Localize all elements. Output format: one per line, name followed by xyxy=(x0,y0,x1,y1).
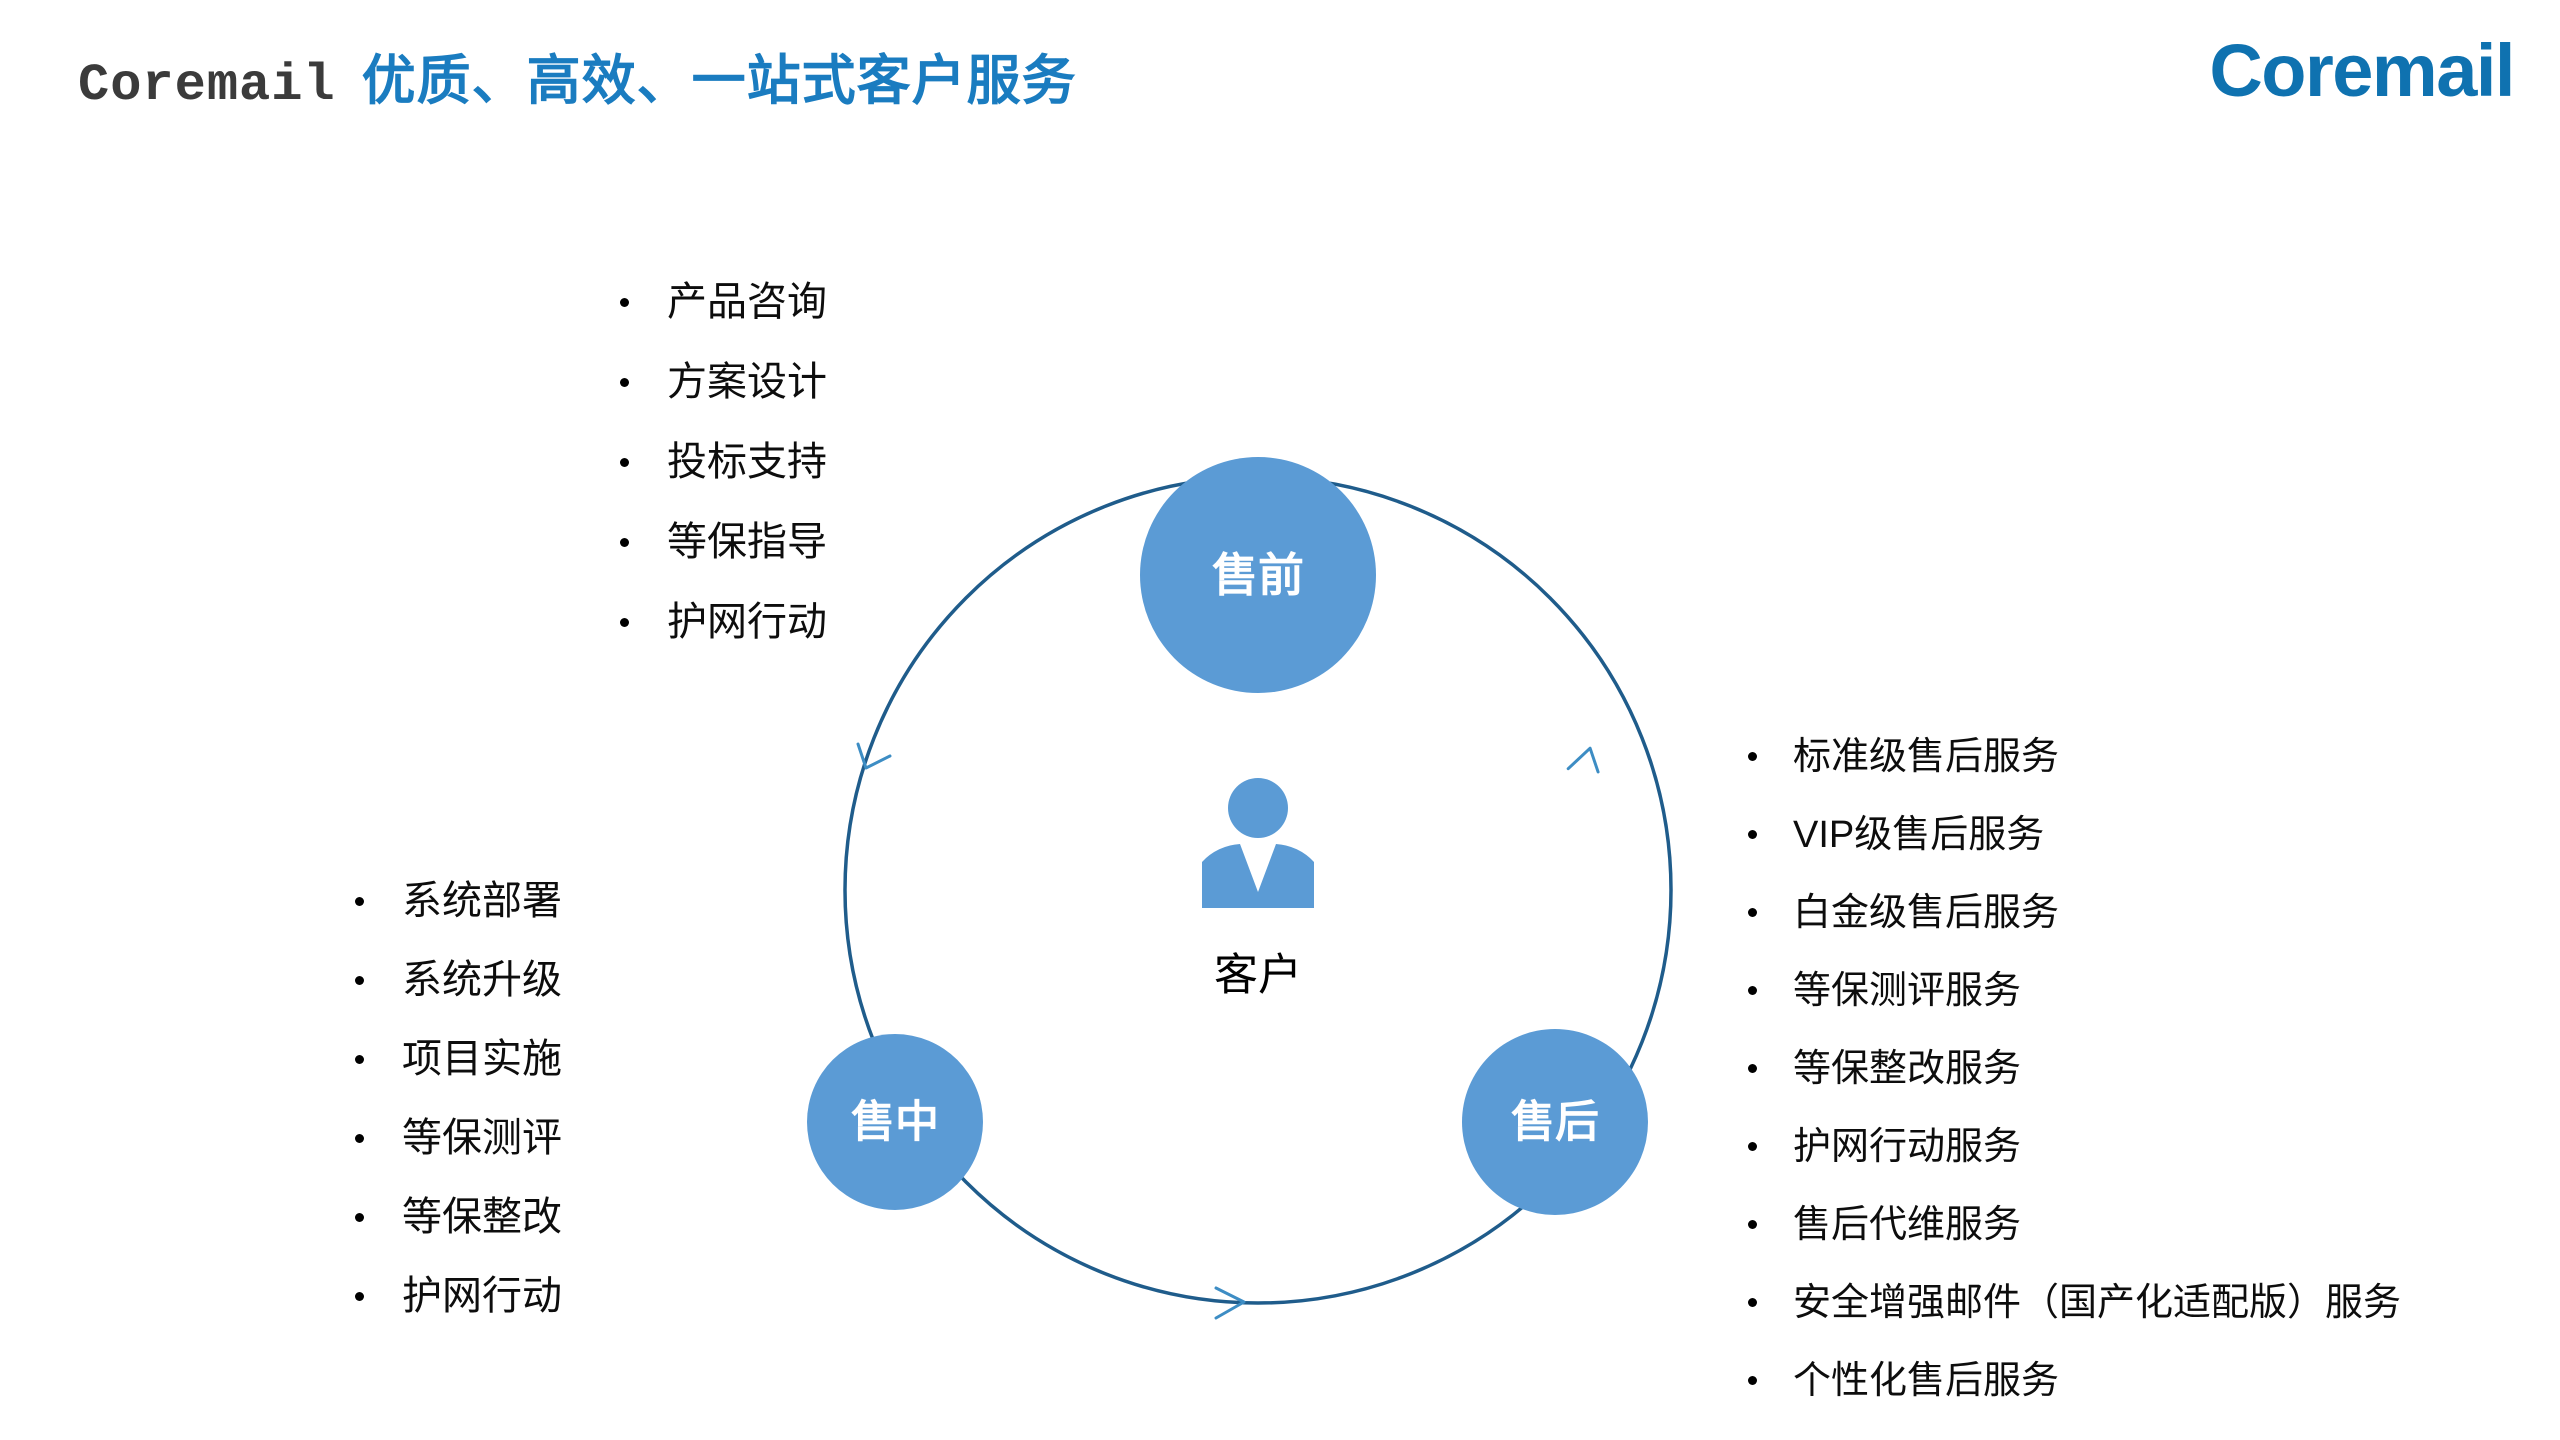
slide-canvas: Coremail 优质、高效、一站式客户服务 Coremail 产品咨询 方案设… xyxy=(0,0,2560,1440)
list-item: 标准级售后服务 xyxy=(1748,718,2401,796)
list-item-label: 等保整改 xyxy=(402,1178,562,1257)
list-item: 系统升级 xyxy=(355,941,562,1020)
service-cycle-diagram: 售前 售中 售后 xyxy=(800,420,1740,1380)
list-item-label: 标准级售后服务 xyxy=(1793,718,2059,796)
bullet-dot-icon xyxy=(1748,1220,1757,1229)
list-item: 安全增强邮件（国产化适配版）服务 xyxy=(1748,1264,2401,1342)
bullet-dot-icon xyxy=(1748,1376,1757,1385)
list-item: 项目实施 xyxy=(355,1020,562,1099)
person-body-icon xyxy=(1202,844,1314,908)
page-title: Coremail 优质、高效、一站式客户服务 xyxy=(78,36,1077,115)
list-item: 护网行动 xyxy=(620,582,827,662)
list-item: 个性化售后服务 xyxy=(1748,1342,2401,1420)
bullet-dot-icon xyxy=(1748,830,1757,839)
person-head-icon xyxy=(1228,778,1288,838)
list-item-label: 产品咨询 xyxy=(667,262,827,342)
list-item: 护网行动 xyxy=(355,1257,562,1336)
list-item: 系统部署 xyxy=(355,862,562,941)
title-brand-text: Coremail xyxy=(78,56,336,115)
list-item-label: 个性化售后服务 xyxy=(1793,1342,2059,1420)
list-item: 等保测评 xyxy=(355,1099,562,1178)
bullet-dot-icon xyxy=(355,897,364,906)
bullet-dot-icon xyxy=(355,1292,364,1301)
bullet-dot-icon xyxy=(355,1055,364,1064)
person-icon-glyph xyxy=(1202,778,1314,908)
node-presale-label: 售前 xyxy=(1212,549,1304,601)
node-insale[interactable]: 售中 xyxy=(807,1034,983,1210)
bullet-dot-icon xyxy=(620,538,629,547)
bullet-dot-icon xyxy=(620,458,629,467)
list-item: 等保整改 xyxy=(355,1178,562,1257)
aftersale-list: 标准级售后服务 VIP级售后服务 白金级售后服务 等保测评服务 等保整改服务 护… xyxy=(1748,718,2401,1420)
node-aftersale[interactable]: 售后 xyxy=(1462,1029,1648,1215)
node-aftersale-label: 售后 xyxy=(1511,1098,1599,1147)
insale-list: 系统部署 系统升级 项目实施 等保测评 等保整改 护网行动 xyxy=(355,862,562,1336)
list-item-label: 安全增强邮件（国产化适配版）服务 xyxy=(1793,1264,2401,1342)
bullet-dot-icon xyxy=(1748,908,1757,917)
list-item: 产品咨询 xyxy=(620,262,827,342)
node-presale[interactable]: 售前 xyxy=(1140,457,1376,693)
list-item-label: 护网行动服务 xyxy=(1793,1108,2021,1186)
node-insale-label: 售中 xyxy=(851,1098,939,1147)
bullet-dot-icon xyxy=(1748,986,1757,995)
coremail-logo: Coremail xyxy=(2209,28,2514,113)
center-label: 客户 xyxy=(1214,951,1302,1000)
list-item: 等保指导 xyxy=(620,502,827,582)
list-item-label: 等保测评 xyxy=(402,1099,562,1178)
bullet-dot-icon xyxy=(620,378,629,387)
list-item: 投标支持 xyxy=(620,422,827,502)
list-item-label: 系统部署 xyxy=(402,862,562,941)
arrow-head-right-icon xyxy=(1568,745,1602,774)
bullet-dot-icon xyxy=(620,298,629,307)
list-item: 护网行动服务 xyxy=(1748,1108,2401,1186)
list-item-label: 售后代维服务 xyxy=(1793,1186,2021,1264)
presale-list: 产品咨询 方案设计 投标支持 等保指导 护网行动 xyxy=(620,262,827,662)
list-item-label: 等保测评服务 xyxy=(1793,952,2021,1030)
bullet-dot-icon xyxy=(1748,1298,1757,1307)
list-item: 等保测评服务 xyxy=(1748,952,2401,1030)
bullet-dot-icon xyxy=(355,1134,364,1143)
list-item: 白金级售后服务 xyxy=(1748,874,2401,952)
bullet-dot-icon xyxy=(355,1213,364,1222)
title-main-text: 优质、高效、一站式客户服务 xyxy=(362,36,1077,115)
list-item-label: 系统升级 xyxy=(402,941,562,1020)
list-item-label: 方案设计 xyxy=(667,342,827,422)
list-item-label: VIP级售后服务 xyxy=(1793,796,2044,874)
bullet-dot-icon xyxy=(1748,752,1757,761)
bullet-dot-icon xyxy=(620,618,629,627)
list-item-label: 项目实施 xyxy=(402,1020,562,1099)
list-item-label: 白金级售后服务 xyxy=(1793,874,2059,952)
bullet-dot-icon xyxy=(355,976,364,985)
list-item: 方案设计 xyxy=(620,342,827,422)
bullet-dot-icon xyxy=(1748,1064,1757,1073)
bullet-dot-icon xyxy=(1748,1142,1757,1151)
list-item: VIP级售后服务 xyxy=(1748,796,2401,874)
list-item: 等保整改服务 xyxy=(1748,1030,2401,1108)
list-item-label: 护网行动 xyxy=(402,1257,562,1336)
list-item: 售后代维服务 xyxy=(1748,1186,2401,1264)
list-item-label: 等保整改服务 xyxy=(1793,1030,2021,1108)
